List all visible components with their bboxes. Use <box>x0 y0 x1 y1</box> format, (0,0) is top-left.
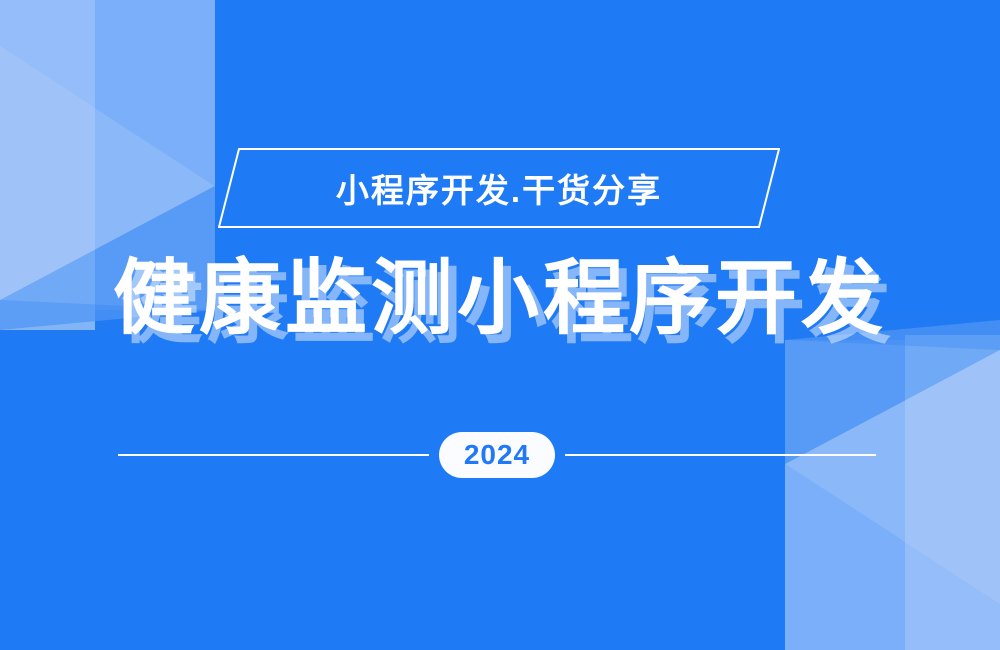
poster-canvas: 小程序开发.干货分享 健康监测小程序开发 2024 <box>0 0 1000 650</box>
year-badge: 2024 <box>439 432 555 478</box>
year-row: 2024 <box>118 432 876 478</box>
subtitle-text: 小程序开发.干货分享 <box>218 148 780 228</box>
rule-left <box>118 454 429 456</box>
right-pale-band <box>905 335 1000 650</box>
left-wedge-upper <box>0 0 215 186</box>
page-title: 健康监测小程序开发 <box>0 258 1000 340</box>
rule-right <box>565 454 876 456</box>
right-mid-band <box>785 340 905 650</box>
right-wedge-lower <box>785 464 1000 650</box>
subtitle-banner: 小程序开发.干货分享 <box>218 148 780 228</box>
